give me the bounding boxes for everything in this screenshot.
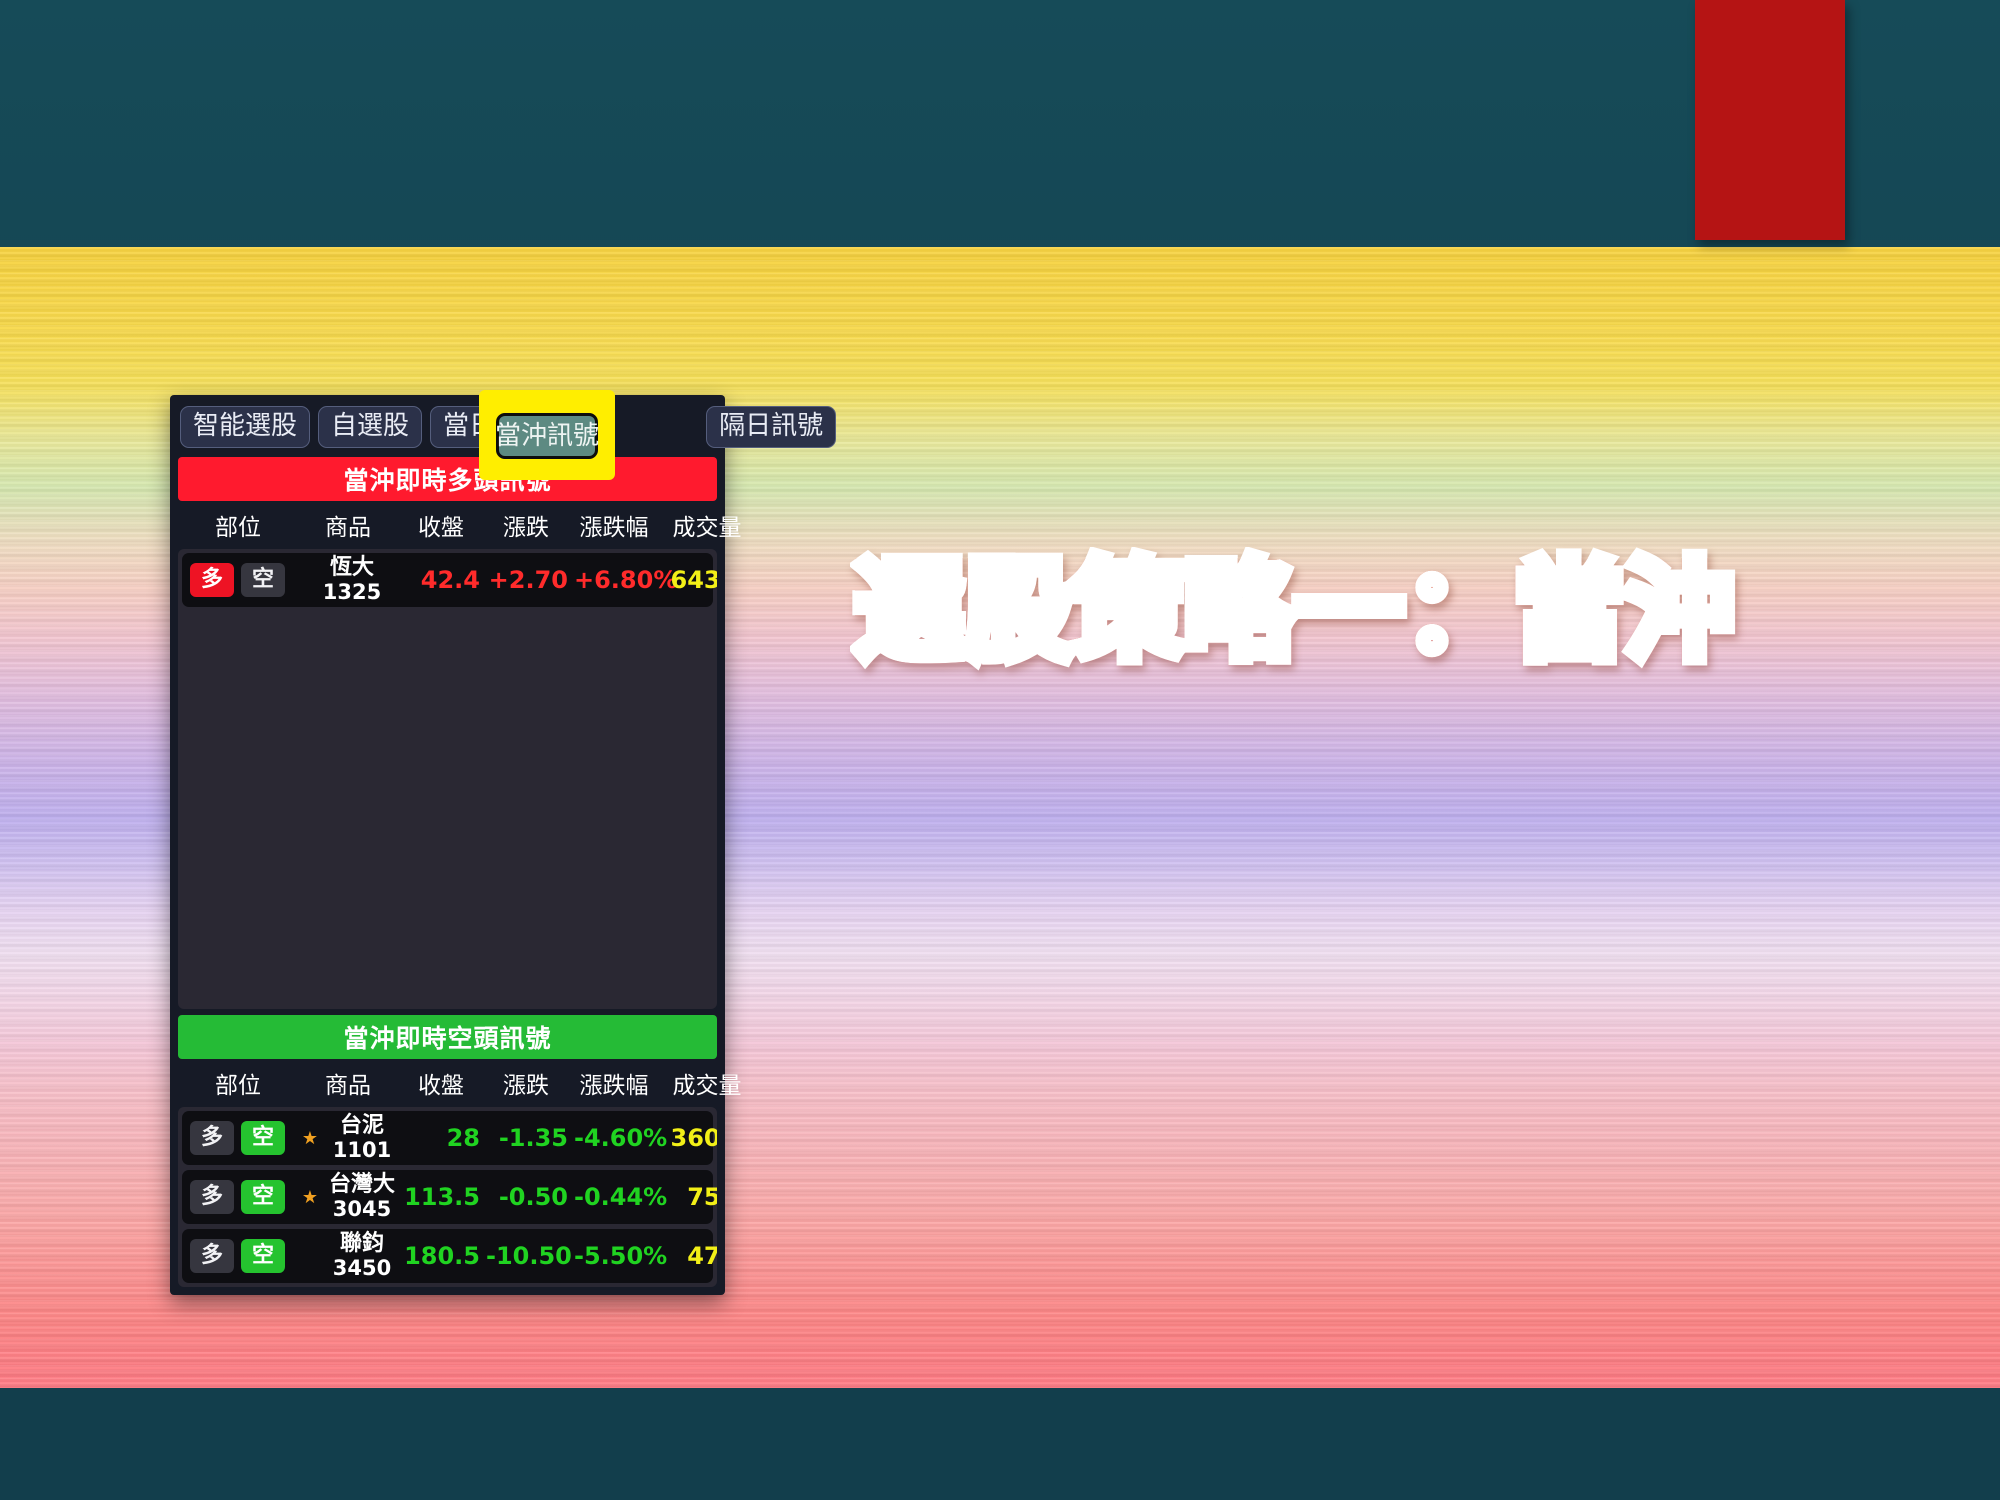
tab-smart-picks[interactable]: 智能選股	[180, 406, 310, 448]
column-header-position: 部位	[180, 508, 296, 542]
close-price: 28	[404, 1124, 486, 1152]
close-price: 113.5	[404, 1183, 486, 1211]
long-section-title: 當沖即時多頭訊號	[178, 457, 717, 501]
product-cell[interactable]: 台泥 1101	[320, 1114, 404, 1162]
close-price: 42.4	[404, 566, 486, 594]
volume: 4718	[662, 1242, 717, 1270]
short-signal-list[interactable]: 多 空 ★ 台泥 1101 28 -1.35 -4.60% 36092 多 空 …	[178, 1107, 717, 1287]
product-name: 台泥	[340, 1114, 384, 1139]
change-percent: +6.80%	[574, 566, 662, 594]
long-signal-list[interactable]: 多 空 恆大 1325 42.4 +2.70 +6.80% 64308	[178, 549, 717, 1009]
product-code: 3045	[333, 1198, 391, 1222]
change-value: -1.35	[486, 1124, 574, 1152]
tab-daytrade-signals[interactable]: 當沖訊號	[496, 413, 598, 459]
column-header-position: 部位	[180, 1066, 296, 1100]
change-percent: -5.50%	[574, 1242, 662, 1270]
position-toggle-group[interactable]: 多 空	[184, 563, 300, 597]
star-icon[interactable]: ★	[300, 1188, 320, 1206]
product-name: 恆大	[330, 556, 374, 581]
table-row[interactable]: 多 空 ★ 台泥 1101 28 -1.35 -4.60% 36092	[182, 1111, 713, 1165]
column-header-change-pct: 漲跌幅	[570, 1066, 658, 1100]
short-section-title: 當沖即時空頭訊號	[178, 1015, 717, 1059]
product-code: 1101	[333, 1139, 391, 1163]
close-price: 180.5	[404, 1242, 486, 1270]
star-icon[interactable]: ★	[300, 1129, 320, 1147]
table-row[interactable]: 多 空 ★ 聯鈞 3450 180.5 -10.50 -5.50% 4718	[182, 1229, 713, 1283]
top-right-red-banner	[1695, 0, 1845, 240]
position-toggle-group[interactable]: 多 空	[184, 1239, 300, 1273]
column-header-product: 商品	[296, 1066, 400, 1100]
column-header-change-pct: 漲跌幅	[570, 508, 658, 542]
product-cell[interactable]: 台灣大 3045	[320, 1173, 404, 1221]
short-badge[interactable]: 空	[241, 1239, 285, 1273]
column-header-product: 商品	[296, 508, 400, 542]
short-badge[interactable]: 空	[241, 1180, 285, 1214]
position-toggle-group[interactable]: 多 空	[184, 1121, 300, 1155]
column-header-close: 收盤	[400, 508, 482, 542]
long-badge[interactable]: 多	[190, 1180, 234, 1214]
tab-watchlist[interactable]: 自選股	[318, 406, 422, 448]
column-header-close: 收盤	[400, 1066, 482, 1100]
change-percent: -0.44%	[574, 1183, 662, 1211]
column-header-volume: 成交量	[658, 1066, 756, 1100]
stock-signal-app-panel: 智能選股 自選股 當日訊號 當沖訊號 隔日訊號 當沖即時多頭訊號 部位 商品 收…	[170, 395, 725, 1295]
slide-canvas: 選股策略一：當沖 智能選股 自選股 當日訊號 當沖訊號 隔日訊號 當沖即時多頭訊…	[0, 0, 2000, 1500]
page-title: 選股策略一：當沖	[855, 558, 1735, 666]
change-percent: -4.60%	[574, 1124, 662, 1152]
tab-next-day-signals[interactable]: 隔日訊號	[706, 406, 836, 448]
change-value: -0.50	[486, 1183, 574, 1211]
product-cell[interactable]: 聯鈞 3450	[320, 1232, 404, 1280]
change-value: +2.70	[486, 566, 574, 594]
product-name: 聯鈞	[340, 1232, 384, 1257]
volume: 36092	[662, 1124, 717, 1152]
tab-bar: 智能選股 自選股 當日訊號 當沖訊號 隔日訊號	[178, 401, 717, 453]
short-badge[interactable]: 空	[241, 563, 285, 597]
long-badge[interactable]: 多	[190, 1239, 234, 1273]
product-code: 1325	[323, 581, 381, 605]
column-header-change: 漲跌	[482, 508, 570, 542]
position-toggle-group[interactable]: 多 空	[184, 1180, 300, 1214]
product-name: 台灣大	[329, 1173, 395, 1198]
table-row[interactable]: 多 空 恆大 1325 42.4 +2.70 +6.80% 64308	[182, 553, 713, 607]
long-badge[interactable]: 多	[190, 563, 234, 597]
change-value: -10.50	[486, 1242, 574, 1270]
column-header-change: 漲跌	[482, 1066, 570, 1100]
volume: 7540	[662, 1183, 717, 1211]
table-row[interactable]: 多 空 ★ 台灣大 3045 113.5 -0.50 -0.44% 7540	[182, 1170, 713, 1224]
long-badge[interactable]: 多	[190, 1121, 234, 1155]
product-code: 3450	[333, 1257, 391, 1281]
volume: 64308	[662, 566, 717, 594]
short-column-headers: 部位 商品 收盤 漲跌 漲跌幅 成交量	[178, 1059, 717, 1107]
short-badge[interactable]: 空	[241, 1121, 285, 1155]
product-cell[interactable]: 恆大 1325	[300, 556, 404, 604]
column-header-volume: 成交量	[658, 508, 756, 542]
long-column-headers: 部位 商品 收盤 漲跌 漲跌幅 成交量	[178, 501, 717, 549]
